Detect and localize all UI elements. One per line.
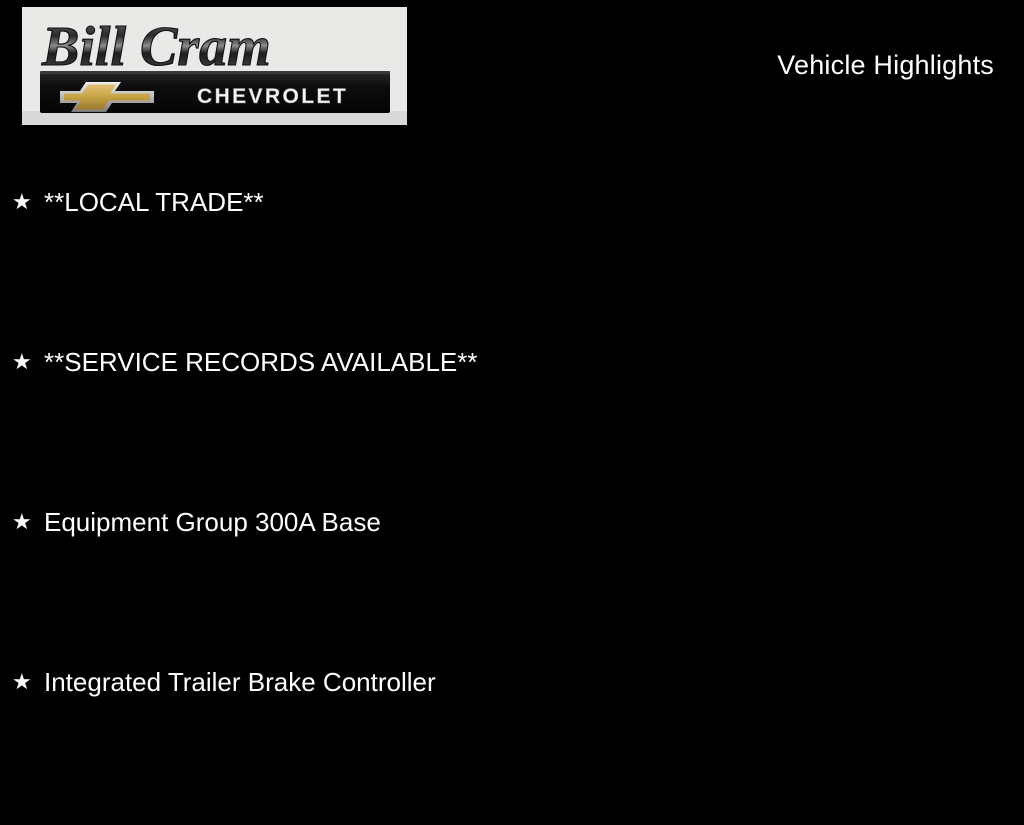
dealer-logo-graphic: Bill Cram CHEVROLET — [22, 7, 407, 125]
list-item: ★ **LOCAL TRADE** — [0, 185, 1024, 345]
star-bullet-icon: ★ — [12, 665, 34, 699]
star-bullet-icon: ★ — [12, 185, 34, 219]
highlight-label: **LOCAL TRADE** — [44, 185, 264, 219]
vehicle-highlights-list: ★ **LOCAL TRADE** ★ **SERVICE RECORDS AV… — [0, 185, 1024, 825]
dealer-logo[interactable]: Bill Cram CHEVROLET — [22, 7, 407, 125]
highlight-label: **SERVICE RECORDS AVAILABLE** — [44, 345, 478, 379]
svg-text:Bill Cram: Bill Cram — [41, 16, 271, 78]
page-header: Bill Cram CHEVROLET Vehicle Highlights — [0, 0, 1024, 140]
list-item: ★ **SERVICE RECORDS AVAILABLE** — [0, 345, 1024, 505]
highlight-label: Integrated Trailer Brake Controller — [44, 665, 436, 699]
star-bullet-icon: ★ — [12, 505, 34, 539]
list-item: ★ Equipment Group 300A Base — [0, 505, 1024, 665]
list-item: ★ Integrated Trailer Brake Controller — [0, 665, 1024, 825]
page-title: Vehicle Highlights — [777, 48, 994, 82]
svg-text:CHEVROLET: CHEVROLET — [197, 85, 348, 108]
highlight-label: Equipment Group 300A Base — [44, 505, 381, 539]
star-bullet-icon: ★ — [12, 345, 34, 379]
